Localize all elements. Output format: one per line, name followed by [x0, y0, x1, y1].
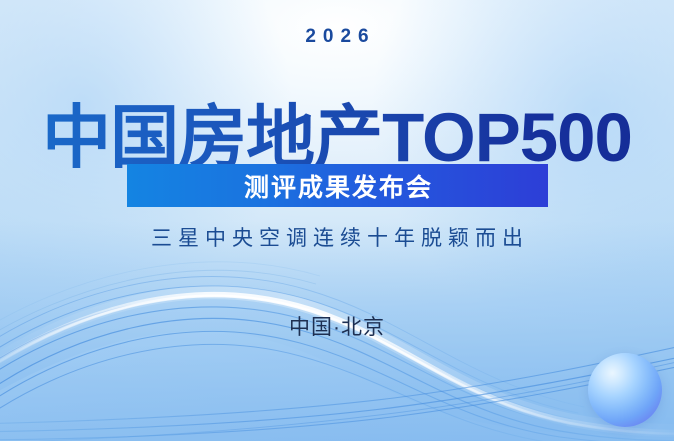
wave-band-fill: [0, 331, 674, 441]
year-label: 2026: [0, 26, 674, 48]
blue-sphere-icon: [588, 353, 662, 427]
subtitle-label: 三星中央空调连续十年脱颖而出: [0, 222, 674, 252]
poster-canvas: 2026 中国房地产TOP500 测评成果发布会 三星中央空调连续十年脱颖而出 …: [0, 0, 674, 441]
event-banner: 测评成果发布会: [127, 164, 548, 207]
wave-line-group-left: [0, 277, 674, 441]
event-banner-label: 测评成果发布会: [242, 168, 433, 204]
location-label: 中国·北京: [0, 311, 674, 341]
wave-ribbon-decoration: [0, 0, 674, 441]
wave-line-group-right: [0, 341, 674, 441]
